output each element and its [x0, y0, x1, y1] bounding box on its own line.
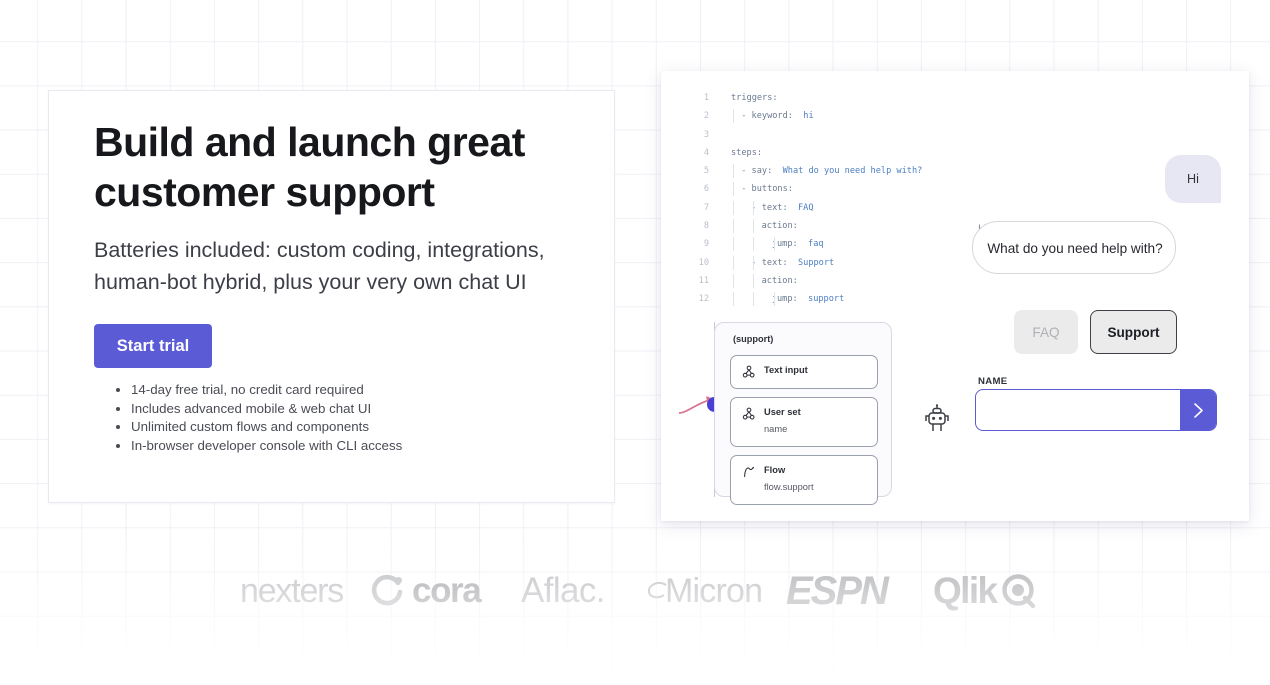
customer-logo-strip: nexters cora Aflac. Micron ESPN Qlik [0, 556, 1270, 626]
flow-card-label: (support) [733, 334, 773, 344]
flow-curve-icon [742, 465, 756, 479]
indent-guide [733, 182, 734, 196]
chat-user-message: Hi [1165, 155, 1221, 203]
yaml-key: text: [762, 203, 788, 213]
line-number: 12 [683, 290, 709, 308]
chat-bubble-user: Hi [1165, 155, 1221, 203]
list-item: In-browser developer console with CLI ac… [131, 437, 402, 456]
yaml-key: triggers: [731, 93, 778, 103]
line-number: 9 [683, 235, 709, 253]
node-graph-icon [742, 407, 756, 421]
yaml-dash: - [741, 166, 751, 176]
flow-node-title: User set [764, 407, 801, 417]
code-line: 4steps: [683, 144, 922, 162]
line-number: 3 [683, 126, 709, 144]
chat-send-button[interactable] [1180, 390, 1216, 430]
yaml-key: buttons: [752, 184, 793, 194]
yaml-code-editor[interactable]: 1triggers:2- keyword: hi34steps:5- say: … [683, 89, 922, 309]
indent-guide [774, 292, 775, 306]
flow-node-title: Flow [764, 465, 785, 475]
line-number: 1 [683, 89, 709, 107]
flow-node-value: name [764, 424, 787, 434]
yaml-key: action: [762, 276, 798, 286]
code-line: 7- text: FAQ [683, 199, 922, 217]
logo-espn: ESPN [786, 556, 887, 626]
yaml-dash: - [741, 184, 751, 194]
yaml-value: FAQ [788, 203, 814, 213]
indent-guide [733, 109, 734, 123]
indent-guide [733, 201, 734, 215]
yaml-key: action: [762, 221, 798, 231]
hero-card: Build and launch great customer support … [48, 90, 615, 503]
code-line: 10- text: Support [683, 254, 922, 272]
indent-guide [753, 201, 754, 215]
flow-card[interactable]: (support) Text input User set name [714, 322, 892, 497]
start-trial-button[interactable]: Start trial [94, 324, 212, 368]
flow-node-title: Text input [764, 365, 808, 375]
code-line: 9jump: faq [683, 235, 922, 253]
yaml-key: text: [762, 258, 788, 268]
yaml-dash: - [741, 111, 751, 121]
chat-field-label: NAME [978, 376, 1007, 387]
code-line: 2- keyword: hi [683, 107, 922, 125]
indent-guide [753, 292, 754, 306]
chat-name-input[interactable] [976, 390, 1180, 430]
flow-node-text-input[interactable]: Text input [730, 355, 878, 389]
indent-guide [733, 219, 734, 233]
chat-bubble-bot: What do you need help with? [972, 221, 1176, 274]
feature-list: 14-day free trial, no credit card requir… [109, 381, 402, 455]
logo-micron: Micron [646, 556, 762, 626]
indent-guide [774, 237, 775, 251]
indent-guide [753, 237, 754, 251]
indent-guide [753, 274, 754, 288]
logo-qlik: Qlik [933, 556, 1039, 626]
flow-node-value: flow.support [764, 482, 814, 492]
code-line: 3 [683, 126, 922, 144]
list-item: Unlimited custom flows and components [131, 418, 402, 437]
code-line: 6- buttons: [683, 180, 922, 198]
quick-reply-support[interactable]: Support [1090, 310, 1177, 354]
quick-reply-faq[interactable]: FAQ [1014, 310, 1078, 354]
indent-guide [733, 274, 734, 288]
yaml-key: steps: [731, 148, 762, 158]
code-line: 1triggers: [683, 89, 922, 107]
logo-cora: cora [370, 556, 480, 626]
node-graph-icon [742, 365, 756, 379]
indent-guide [733, 292, 734, 306]
yaml-value: support [798, 294, 845, 304]
line-number: 5 [683, 162, 709, 180]
line-number: 4 [683, 144, 709, 162]
code-line: 5- say: What do you need help with? [683, 162, 922, 180]
logo-nexters: nexters [240, 556, 343, 626]
chat-input-row [975, 389, 1217, 431]
yaml-value: faq [798, 239, 824, 249]
product-preview-panel: 1triggers:2- keyword: hi34steps:5- say: … [661, 71, 1249, 521]
flow-node-flow[interactable]: Flow flow.support [730, 455, 878, 505]
line-number: 8 [683, 217, 709, 235]
logo-aflac: Aflac. [521, 556, 605, 626]
yaml-value: hi [793, 111, 814, 121]
line-number: 7 [683, 199, 709, 217]
yaml-key: jump: [772, 294, 798, 304]
flow-node-user-set[interactable]: User set name [730, 397, 878, 447]
hero-subtitle: Batteries included: custom coding, integ… [94, 234, 584, 298]
cora-mark-icon [370, 573, 406, 609]
yaml-value: Support [788, 258, 835, 268]
yaml-value: What do you need help with? [772, 166, 922, 176]
list-item: Includes advanced mobile & web chat UI [131, 400, 402, 419]
yaml-key: jump: [772, 239, 798, 249]
indent-guide [753, 219, 754, 233]
chat-bot-message: What do you need help with? [973, 222, 1177, 275]
line-number: 2 [683, 107, 709, 125]
code-line: 12jump: support [683, 290, 922, 308]
indent-guide [753, 256, 754, 270]
code-line: 8action: [683, 217, 922, 235]
yaml-key: say: [752, 166, 773, 176]
indent-guide [733, 164, 734, 178]
chevron-right-icon [1189, 401, 1208, 420]
line-number: 10 [683, 254, 709, 272]
indent-guide [733, 256, 734, 270]
robot-icon [920, 402, 954, 436]
yaml-key: keyword: [752, 111, 793, 121]
code-line: 11action: [683, 272, 922, 290]
list-item: 14-day free trial, no credit card requir… [131, 381, 402, 400]
page-title: Build and launch great customer support [94, 117, 574, 217]
line-number: 6 [683, 180, 709, 198]
qlik-mark-icon [999, 571, 1039, 611]
indent-guide [733, 237, 734, 251]
line-number: 11 [683, 272, 709, 290]
